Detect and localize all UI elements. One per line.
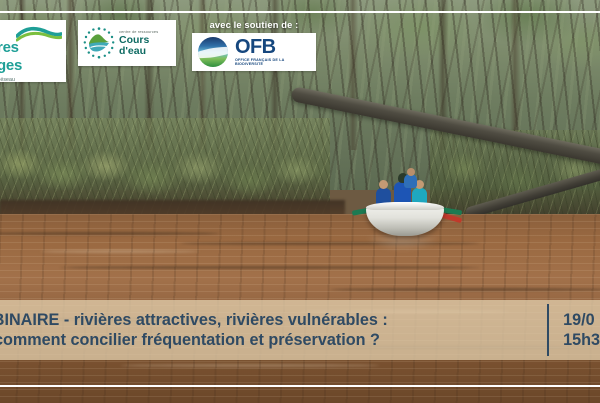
webinar-title-line1: EBINAIRE - rivières attractives, rivière…: [0, 311, 543, 329]
ofb-full-name: OFFICE FRANÇAIS DE LA BIODIVERSITÉ: [235, 59, 310, 66]
rivieres-sauvages-logo[interactable]: ères ages du Réseau: [0, 20, 66, 82]
paddler-rear-torso: [404, 174, 417, 188]
paddler-rear-head: [407, 168, 415, 176]
webinar-title: EBINAIRE - rivières attractives, rivière…: [0, 311, 543, 350]
ofb-acronym: OFB: [235, 37, 310, 57]
wave-icon: [16, 25, 62, 42]
webinar-banner-screenshot: ères ages du Réseau: [0, 0, 600, 403]
webinar-title-banner: EBINAIRE - rivières attractives, rivière…: [0, 300, 600, 360]
paddler-front-left-head: [379, 180, 388, 189]
cours-deau-mark-icon: [83, 27, 115, 59]
banner-divider: [547, 304, 549, 356]
cours-deau-superline: centre de ressources: [119, 30, 171, 34]
water-glint: [40, 250, 200, 253]
cours-deau-logo[interactable]: centre de ressources Cours d'eau: [78, 20, 176, 66]
top-white-rule: [0, 11, 600, 13]
webinar-time: 15h3: [563, 331, 600, 349]
webinar-date: 19/0: [563, 311, 600, 329]
rivieres-sauvages-tagline: du Réseau: [0, 77, 22, 82]
ofb-support-block: avec le soutien de : OFB OFFICE FRANÇAIS…: [192, 20, 316, 71]
ofb-logo[interactable]: OFB OFFICE FRANÇAIS DE LA BIODIVERSITÉ: [192, 33, 316, 71]
water-ripple: [60, 266, 480, 269]
canoe-with-paddlers: [352, 168, 460, 240]
water-glint: [120, 364, 380, 367]
support-label: avec le soutien de :: [210, 20, 299, 30]
webinar-datetime: 19/0 15h3: [563, 311, 600, 350]
canoe-gunwale: [366, 202, 444, 210]
water-ripple: [330, 288, 600, 291]
rivieres-sauvages-line2: ages: [0, 58, 22, 73]
rivieres-sauvages-line1: ères: [0, 40, 22, 55]
water-ripple: [0, 232, 220, 235]
bottom-white-rule: [0, 385, 600, 387]
cours-deau-title: Cours d'eau: [119, 35, 171, 56]
ofb-mark-icon: [198, 37, 228, 67]
webinar-title-line2: comment concilier fréquentation et prése…: [0, 331, 543, 349]
logo-row: ères ages du Réseau: [0, 20, 316, 82]
